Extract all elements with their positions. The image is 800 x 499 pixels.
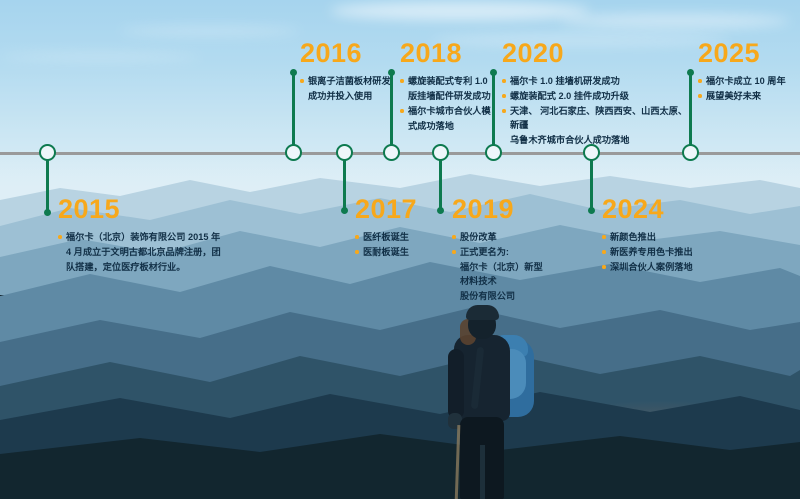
entry-2025[interactable]: 2025 福尔卡成立 10 周年 展望美好未来 <box>698 40 794 104</box>
entry-2015[interactable]: 2015 福尔卡（北京）装饰有限公司 2015 年 4 月成立于文明古都北京品牌… <box>58 196 238 275</box>
stem-2016 <box>292 72 295 148</box>
list-item: 银离子洁菌板材研发 <box>300 74 392 88</box>
items-2020: 福尔卡 1.0 挂墙机研发成功 螺旋装配式 2.0 挂件成功升级 天津、 河北石… <box>502 74 688 147</box>
list-item: 深圳合伙人案例落地 <box>602 260 712 274</box>
list-item: 正式更名为: <box>452 245 548 259</box>
items-2015: 福尔卡（北京）装饰有限公司 2015 年 4 月成立于文明古都北京品牌注册，团 … <box>58 230 238 274</box>
stem-2017 <box>343 160 346 210</box>
items-2025: 福尔卡成立 10 周年 展望美好未来 <box>698 74 794 103</box>
stem-dot-2020 <box>490 69 497 76</box>
list-item: 螺旋装配式专利 1.0 <box>400 74 494 88</box>
timeline-node-2015[interactable] <box>39 144 56 161</box>
year-label-2015: 2015 <box>58 196 238 223</box>
stem-2018 <box>390 72 393 148</box>
stem-dot-2016 <box>290 69 297 76</box>
entry-2017[interactable]: 2017 医纤板诞生 医耐板诞生 <box>355 196 435 260</box>
entry-2020[interactable]: 2020 福尔卡 1.0 挂墙机研发成功 螺旋装配式 2.0 挂件成功升级 天津… <box>502 40 688 148</box>
timeline-node-2025[interactable] <box>682 144 699 161</box>
cloud <box>0 52 200 62</box>
year-label-2017: 2017 <box>355 196 435 223</box>
items-2019: 股份改革 正式更名为: 福尔卡（北京）新型材料技术 股份有限公司 <box>452 230 548 303</box>
hiker-arm <box>448 349 464 419</box>
stem-dot-2025 <box>687 69 694 76</box>
list-item: 医纤板诞生 <box>355 230 435 244</box>
year-label-2019: 2019 <box>452 196 548 223</box>
list-item: 新医养专用色卡推出 <box>602 245 712 259</box>
list-item: 螺旋装配式 2.0 挂件成功升级 <box>502 89 688 103</box>
entry-2019[interactable]: 2019 股份改革 正式更名为: 福尔卡（北京）新型材料技术 股份有限公司 <box>452 196 548 304</box>
cloud <box>120 26 300 36</box>
list-item: 成功并投入使用 <box>300 89 392 103</box>
year-label-2018: 2018 <box>400 40 494 67</box>
entry-2018[interactable]: 2018 螺旋装配式专利 1.0 版挂墙配件研发成功 福尔卡城市合伙人模 式成功… <box>400 40 494 134</box>
list-item: 医耐板诞生 <box>355 245 435 259</box>
list-item: 展望美好未来 <box>698 89 794 103</box>
list-item: 股份有限公司 <box>452 289 548 303</box>
list-item: 4 月成立于文明古都北京品牌注册，团 <box>58 245 238 259</box>
year-label-2020: 2020 <box>502 40 688 67</box>
stem-dot-2015 <box>44 209 51 216</box>
list-item: 新颜色推出 <box>602 230 712 244</box>
list-item: 版挂墙配件研发成功 <box>400 89 494 103</box>
entry-2016[interactable]: 2016 银离子洁菌板材研发 成功并投入使用 <box>300 40 392 104</box>
timeline-node-2016[interactable] <box>285 144 302 161</box>
list-item: 福尔卡城市合伙人模 <box>400 104 494 118</box>
items-2016: 银离子洁菌板材研发 成功并投入使用 <box>300 74 392 103</box>
stem-2020 <box>492 72 495 148</box>
items-2017: 医纤板诞生 医耐板诞生 <box>355 230 435 259</box>
year-label-2024: 2024 <box>602 196 712 223</box>
timeline-node-2018[interactable] <box>383 144 400 161</box>
stem-dot-2018 <box>388 69 395 76</box>
cloud <box>560 14 790 28</box>
cloud <box>330 2 590 20</box>
stem-dot-2024 <box>588 207 595 214</box>
list-item: 福尔卡成立 10 周年 <box>698 74 794 88</box>
hiker-figure <box>430 305 560 499</box>
list-item: 股份改革 <box>452 230 548 244</box>
list-item: 队搭建，定位医疗板材行业。 <box>58 260 238 274</box>
items-2024: 新颜色推出 新医养专用色卡推出 深圳合伙人案例落地 <box>602 230 712 274</box>
timeline-node-2020[interactable] <box>485 144 502 161</box>
stem-dot-2019 <box>437 207 444 214</box>
stem-2025 <box>689 72 692 148</box>
list-item: 天津、 河北石家庄、陕西西安、山西太原、新疆 <box>502 104 688 132</box>
list-item: 福尔卡（北京）装饰有限公司 2015 年 <box>58 230 238 244</box>
year-label-2025: 2025 <box>698 40 794 67</box>
stem-2019 <box>439 160 442 210</box>
list-item: 福尔卡（北京）新型材料技术 <box>452 260 548 288</box>
timeline-node-2017[interactable] <box>336 144 353 161</box>
list-item: 福尔卡 1.0 挂墙机研发成功 <box>502 74 688 88</box>
stem-2015 <box>46 160 49 212</box>
timeline-node-2019[interactable] <box>432 144 449 161</box>
stem-dot-2017 <box>341 207 348 214</box>
entry-2024[interactable]: 2024 新颜色推出 新医养专用色卡推出 深圳合伙人案例落地 <box>602 196 712 275</box>
stem-2024 <box>590 160 593 210</box>
timeline-axis <box>0 152 800 155</box>
items-2018: 螺旋装配式专利 1.0 版挂墙配件研发成功 福尔卡城市合伙人模 式成功落地 <box>400 74 494 133</box>
hiker-leg-gap <box>480 445 485 499</box>
timeline-infographic: 2015 福尔卡（北京）装饰有限公司 2015 年 4 月成立于文明古都北京品牌… <box>0 0 800 499</box>
year-label-2016: 2016 <box>300 40 392 67</box>
list-item: 式成功落地 <box>400 119 494 133</box>
timeline-node-2024[interactable] <box>583 144 600 161</box>
hiker-cap <box>466 305 499 320</box>
